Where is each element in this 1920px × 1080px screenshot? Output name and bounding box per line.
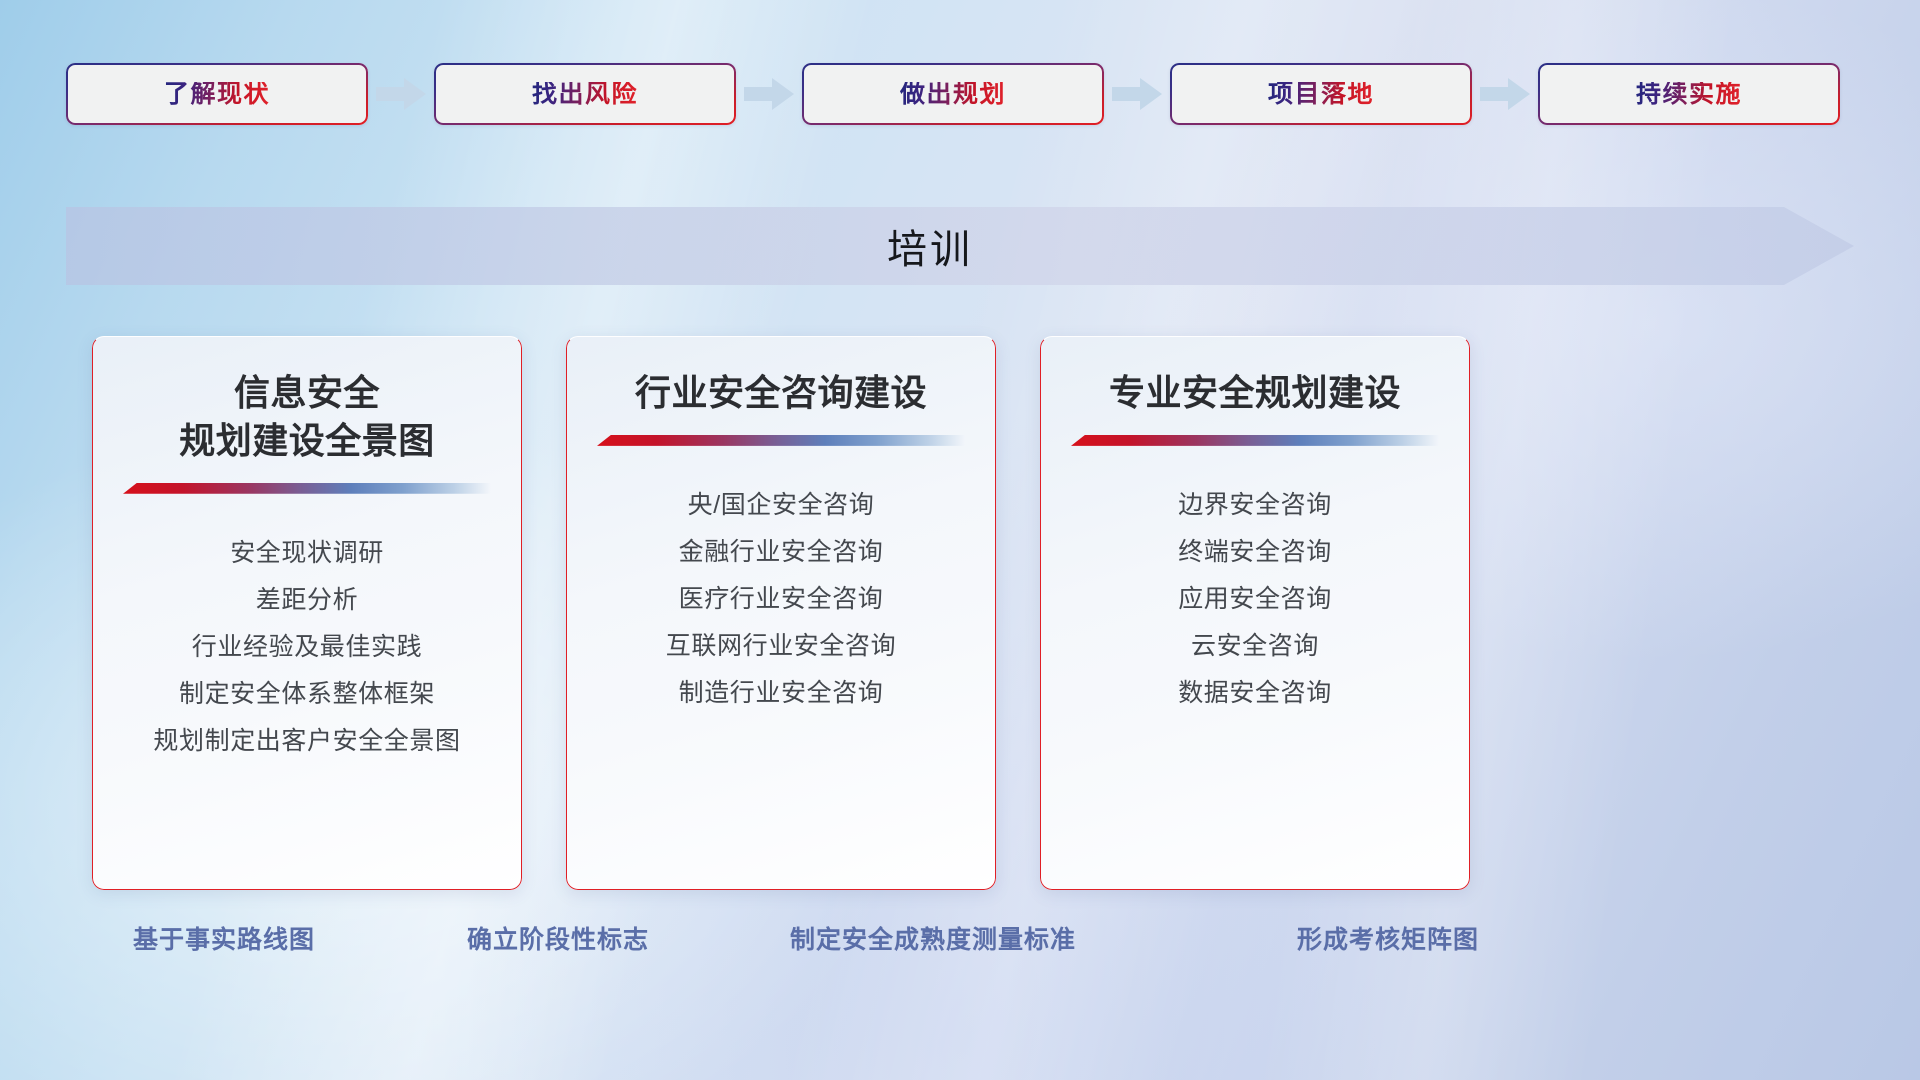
process-step-4-label: 项目落地: [1268, 82, 1374, 107]
step-arrow-icon-4: [1472, 74, 1538, 114]
banner-title: 培训: [66, 207, 1854, 285]
process-step-4[interactable]: 项目落地: [1170, 63, 1472, 125]
card-3-title-line1: 专业安全规划建设: [1109, 369, 1401, 417]
list-item: 金融行业安全咨询: [679, 529, 884, 576]
process-step-2-label: 找出风险: [532, 82, 638, 107]
step-arrow-icon-3: [1104, 74, 1170, 114]
caption-row: 基于事实路线图 确立阶段性标志 制定安全成熟度测量标准 形成考核矩阵图: [0, 920, 1920, 964]
list-item: 制造行业安全咨询: [679, 670, 884, 717]
list-item: 差距分析: [256, 577, 358, 624]
process-step-3[interactable]: 做出规划: [802, 63, 1104, 125]
card-2-divider: [597, 435, 965, 446]
list-item: 云安全咨询: [1191, 623, 1319, 670]
process-step-5-label: 持续实施: [1636, 82, 1742, 107]
list-item: 央/国企安全咨询: [688, 482, 875, 529]
list-item: 制定安全体系整体框架: [179, 671, 435, 718]
caption-roadmap: 基于事实路线图: [133, 920, 315, 956]
list-item: 规划制定出客户安全全景图: [153, 718, 460, 765]
list-item: 数据安全咨询: [1178, 670, 1332, 717]
slide-canvas: 了解现状 找出风险 做出规划 项目落地: [0, 0, 1920, 1080]
card-3-divider: [1071, 435, 1439, 446]
caption-milestones: 确立阶段性标志: [467, 920, 649, 956]
list-item: 边界安全咨询: [1178, 482, 1332, 529]
list-item: 应用安全咨询: [1178, 576, 1332, 623]
card-professional-security-planning[interactable]: 专业安全规划建设 边界安全咨询 终端安全咨询 应用安全咨询 云安全咨询 数据安全…: [1040, 336, 1470, 890]
list-item: 安全现状调研: [230, 530, 384, 577]
process-step-3-label: 做出规划: [900, 82, 1006, 107]
caption-assessment-matrix: 形成考核矩阵图: [1297, 920, 1479, 956]
list-item: 医疗行业安全咨询: [679, 576, 884, 623]
card-3-list: 边界安全咨询 终端安全咨询 应用安全咨询 云安全咨询 数据安全咨询: [1040, 482, 1470, 717]
card-1-title-line1: 信息安全: [179, 369, 435, 417]
card-2-title-line1: 行业安全咨询建设: [635, 369, 927, 417]
card-3-title: 专业安全规划建设: [1109, 369, 1401, 417]
card-information-security-blueprint[interactable]: 信息安全 规划建设全景图 安全现状调研 差距分析 行业经验及最佳实践 制定安全体…: [92, 336, 522, 890]
process-step-5[interactable]: 持续实施: [1538, 63, 1840, 125]
card-1-list: 安全现状调研 差距分析 行业经验及最佳实践 制定安全体系整体框架 规划制定出客户…: [92, 530, 522, 765]
card-row: 信息安全 规划建设全景图 安全现状调研 差距分析 行业经验及最佳实践 制定安全体…: [0, 0, 1920, 1080]
card-1-title: 信息安全 规划建设全景图: [179, 369, 435, 465]
process-step-2[interactable]: 找出风险: [434, 63, 736, 125]
list-item: 互联网行业安全咨询: [666, 623, 896, 670]
step-arrow-icon-2: [736, 74, 802, 114]
training-banner: 培训: [66, 207, 1854, 285]
list-item: 行业经验及最佳实践: [192, 624, 422, 671]
process-step-1[interactable]: 了解现状: [66, 63, 368, 125]
card-1-title-line2: 规划建设全景图: [179, 417, 435, 465]
card-industry-security-consulting[interactable]: 行业安全咨询建设 央/国企安全咨询 金融行业安全咨询 医疗行业安全咨询 互联网行…: [566, 336, 996, 890]
list-item: 终端安全咨询: [1178, 529, 1332, 576]
process-step-row: 了解现状 找出风险 做出规划 项目落地: [66, 63, 1854, 125]
step-arrow-icon-1: [368, 74, 434, 114]
process-step-1-label: 了解现状: [164, 82, 270, 107]
card-1-divider: [123, 483, 491, 494]
card-2-title: 行业安全咨询建设: [635, 369, 927, 417]
caption-maturity-standard: 制定安全成熟度测量标准: [790, 920, 1076, 956]
card-2-list: 央/国企安全咨询 金融行业安全咨询 医疗行业安全咨询 互联网行业安全咨询 制造行…: [566, 482, 996, 717]
